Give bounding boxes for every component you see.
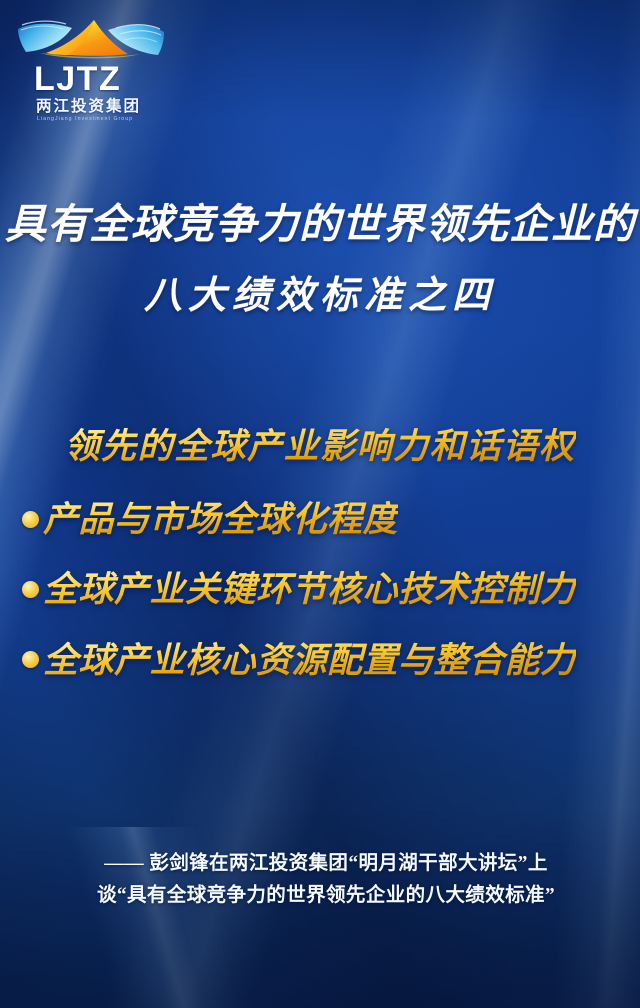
bullet-dot-icon: [22, 511, 39, 528]
poster-content: LJTZ 两江投资集团 LiangJiang Investment Group …: [0, 0, 640, 1008]
criteria-list: 产品与市场全球化程度 全球产业关键环节核心技术控制力 全球产业核心资源配置与整合…: [22, 500, 630, 711]
poster-title: 具有全球竞争力的世界领先企业的 八大绩效标准之四: [0, 200, 640, 319]
list-item: 全球产业关键环节核心技术控制力: [22, 570, 630, 610]
ljtz-swoosh-icon: [16, 12, 166, 64]
list-item: 全球产业核心资源配置与整合能力: [22, 641, 630, 681]
logo-company-name-en: LiangJiang Investment Group: [37, 116, 166, 122]
bullet-dot-icon: [22, 651, 39, 668]
title-line-2: 八大绩效标准之四: [0, 274, 640, 319]
poster-canvas: LJTZ 两江投资集团 LiangJiang Investment Group …: [0, 0, 640, 1008]
list-item-label: 全球产业关键环节核心技术控制力: [43, 570, 576, 610]
bullet-dot-icon: [22, 581, 39, 598]
attribution: —— 彭剑锋在两江投资集团“明月湖干部大讲坛”上 谈“具有全球竞争力的世界领先企…: [30, 848, 622, 911]
list-item-label: 全球产业核心资源配置与整合能力: [43, 641, 576, 681]
list-item: 产品与市场全球化程度: [22, 500, 630, 540]
attribution-line-1: —— 彭剑锋在两江投资集团“明月湖干部大讲坛”上: [30, 848, 622, 880]
section-heading-text: 领先的全球产业影响力和话语权: [64, 427, 575, 466]
attribution-line-2: 谈“具有全球竞争力的世界领先企业的八大绩效标准”: [30, 880, 622, 912]
logo-wordmark: LJTZ: [34, 62, 166, 96]
list-item-label: 产品与市场全球化程度: [43, 500, 398, 540]
section-heading: 领先的全球产业影响力和话语权: [0, 418, 640, 469]
logo-company-name-cn: 两江投资集团: [36, 98, 166, 115]
company-logo: LJTZ 两江投资集团 LiangJiang Investment Group: [16, 12, 166, 122]
title-line-1: 具有全球竞争力的世界领先企业的: [0, 200, 640, 248]
